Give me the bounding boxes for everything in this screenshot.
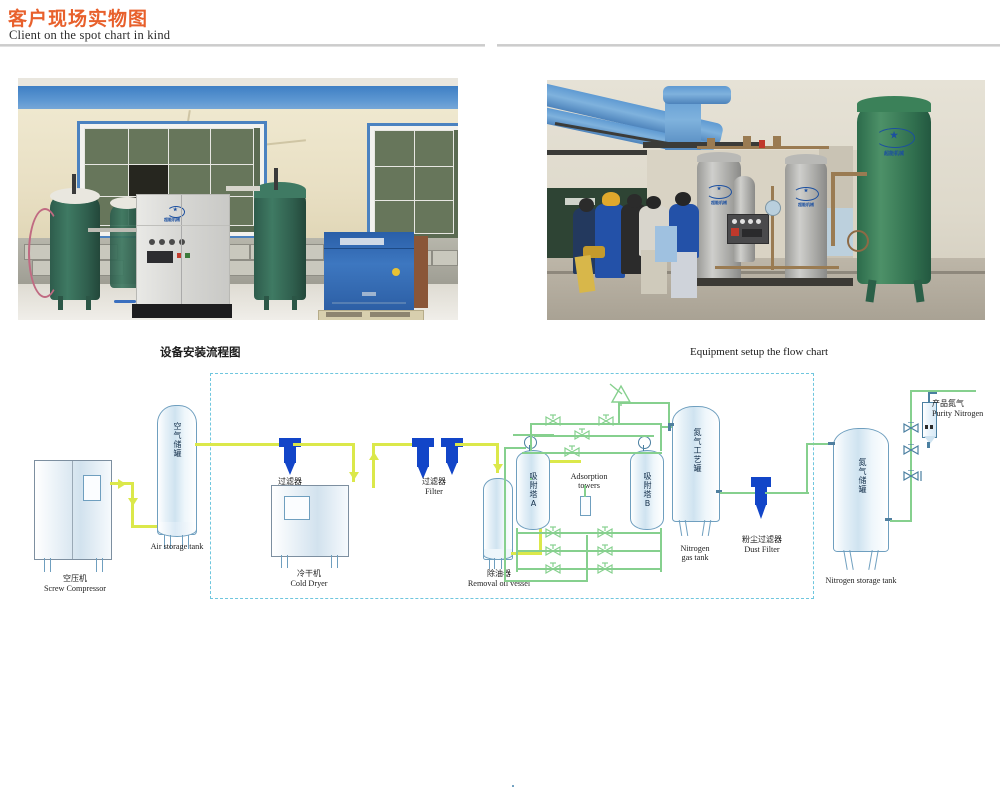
header-divider — [0, 44, 1000, 47]
photo2-worker-head — [579, 198, 594, 212]
pipe-filter1-out — [293, 443, 355, 446]
pipe-green-cross — [522, 452, 662, 454]
photo2-worker-head — [627, 194, 642, 208]
label-adsorption-towers: Adsorption towers — [558, 472, 620, 490]
dust-filter-cone — [756, 505, 766, 519]
arrow-down — [128, 498, 138, 506]
label-cold-dryer: 冷干机 Cold Dryer — [276, 570, 342, 588]
photo1-machine-base — [132, 304, 232, 318]
dust-filter-cap — [751, 477, 771, 487]
valve-icon — [597, 414, 615, 428]
header-divider-gap — [485, 44, 497, 47]
pipe-green — [584, 485, 586, 497]
adsorption-tower-a-inner-label: 吸附塔A — [526, 472, 538, 509]
label-nitrogen-gas-tank: Nitrogen gas tank — [662, 544, 728, 562]
photo1-nitrogen-generator: ★ 超能机械 — [136, 194, 230, 310]
air-storage-tank-inner-label: 空气储罐 — [170, 422, 182, 458]
photo2-duct-top — [663, 86, 731, 104]
label-dust-filter: 粉尘过滤器 Dust Filter — [730, 536, 794, 554]
photo2-worker-head — [646, 196, 661, 209]
page-title-cn: 客户现场实物图 — [8, 4, 148, 31]
screw-compressor-body — [34, 460, 112, 560]
photo2-adsorption-tower-b: ★ 超能机械 — [785, 160, 827, 282]
removal-oil-vessel-body — [483, 478, 513, 560]
nitrogen-gas-tank-inner-label: 氮气工艺罐 — [688, 428, 702, 473]
dust-filter-body — [755, 487, 767, 505]
valve-icon — [596, 562, 614, 576]
valve-icon — [596, 526, 614, 540]
pipe-vertical — [372, 443, 375, 488]
adsorption-tower-b-inner-label: 吸附塔B — [640, 472, 652, 509]
pipe-green — [586, 535, 588, 582]
filter-1-cone — [285, 463, 295, 475]
pipe-green-bottom — [516, 568, 662, 570]
label-nitrogen-storage-tank: Nitrogen storage tank — [818, 576, 904, 585]
arrow-up — [369, 452, 379, 460]
label-screw-compressor: 空压机 Screw Compressor — [40, 575, 110, 593]
photo2-control-panel — [727, 214, 769, 244]
valve-icon — [563, 445, 581, 459]
filter-2b-cone — [447, 463, 457, 475]
photo1-blue-compressor — [324, 232, 414, 312]
pipe-green — [504, 447, 506, 582]
flow-chart-title-cn: 设备安装流程图 — [160, 344, 241, 360]
valve-icon — [903, 470, 923, 484]
valve-icon — [903, 444, 919, 458]
photo1-window-right — [370, 126, 458, 244]
valve-icon — [596, 544, 614, 558]
filter-2b-body — [446, 447, 458, 463]
photo1-green-tank-right — [254, 188, 306, 300]
label-air-storage-tank: Air storage tank — [142, 542, 212, 551]
photo2-green-storage-tank: ★ 超能机械 — [857, 104, 931, 284]
valve-icon — [544, 562, 562, 576]
label-filter-2: 过滤器 Filter — [404, 478, 464, 496]
equipment-flow-chart: 设备安装流程图 Equipment setup the flow chart 空… — [0, 330, 1000, 616]
arrow-down — [493, 464, 503, 472]
tower-b-gauge-icon — [638, 436, 651, 449]
pipe-green — [504, 580, 586, 582]
filter-2a-body — [417, 447, 429, 467]
page-root: 客户现场实物图 Client on the spot chart in kind — [0, 0, 1000, 616]
photo-outdoor-compressor-room: ★ 超能机械 — [18, 78, 458, 320]
cold-dryer-body — [271, 485, 349, 557]
valve-icon — [573, 428, 591, 442]
arrow-right — [118, 479, 126, 489]
filter-2a-cap — [412, 438, 434, 447]
pipe-storage-out — [890, 520, 912, 522]
pipe-vertical-green — [806, 443, 808, 494]
center-small-vessel — [580, 496, 591, 516]
valve-icon — [544, 544, 562, 558]
pipe-green — [534, 435, 654, 437]
pipe-green-bottom — [516, 532, 662, 534]
valve-icon — [903, 422, 919, 436]
pipe-to-filter2 — [372, 443, 416, 446]
nitrogen-storage-tank-inner-label: 氮气储罐 — [853, 458, 867, 494]
page-title-en: Client on the spot chart in kind — [9, 28, 170, 43]
pipe-dust-out — [765, 492, 809, 494]
pipe-top-green — [910, 390, 976, 392]
photo1-roof-band — [18, 86, 458, 110]
arrow-down — [349, 472, 359, 480]
pipe-n2-to-dust — [720, 492, 758, 494]
photo2-worker-helmet — [602, 192, 620, 206]
flow-chart-title-en: Equipment setup the flow chart — [690, 346, 828, 358]
pipe-filter2-out — [455, 443, 499, 446]
valve-icon — [544, 414, 562, 428]
label-purity-nitrogen: 产品氮气 Purity Nitrogen — [932, 400, 996, 418]
valve-icon — [544, 526, 562, 540]
pipe-green-bottom — [516, 550, 662, 552]
pipe-green — [516, 528, 518, 572]
photo2-worker-head — [675, 192, 691, 206]
pipe-green — [504, 447, 526, 449]
page-header: 客户现场实物图 Client on the spot chart in kind — [0, 0, 1000, 50]
filter-1-body — [284, 447, 296, 463]
photo-indoor-nitrogen-plant: ★ 超能机械 ★ 超能机械 — [547, 80, 985, 320]
vent-valve-icon — [608, 382, 634, 406]
